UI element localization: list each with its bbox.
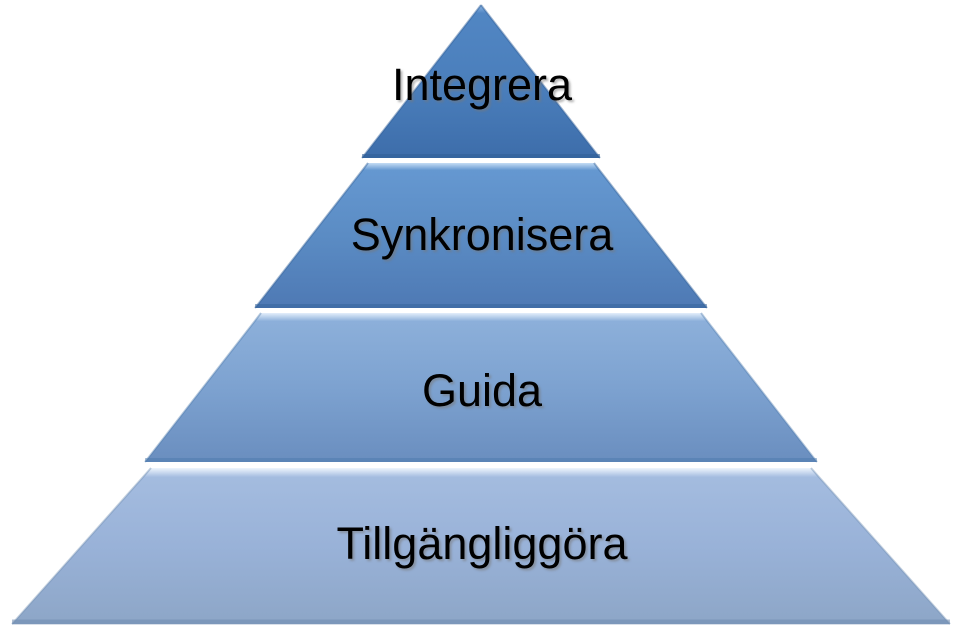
pyramid-tier-1-body: [362, 5, 600, 158]
pyramid-tier-2-top-highlight: [363, 163, 599, 170]
pyramid-diagram: Integrera Synkronisera Guida Tillgänglig…: [0, 0, 964, 637]
pyramid-tier-3-body: [145, 313, 817, 462]
pyramid-tier-3[interactable]: [145, 313, 817, 462]
pyramid-tier-1[interactable]: [362, 5, 600, 158]
pyramid-tier-3-top-highlight: [255, 313, 707, 321]
pyramid-tier-2[interactable]: [255, 163, 707, 308]
pyramid-tier-4-top-highlight: [144, 468, 818, 477]
pyramid-shape-group: [0, 0, 964, 637]
pyramid-tier-2-body: [255, 163, 707, 308]
pyramid-tier-4[interactable]: [12, 468, 950, 624]
pyramid-tier-4-body: [12, 468, 950, 624]
